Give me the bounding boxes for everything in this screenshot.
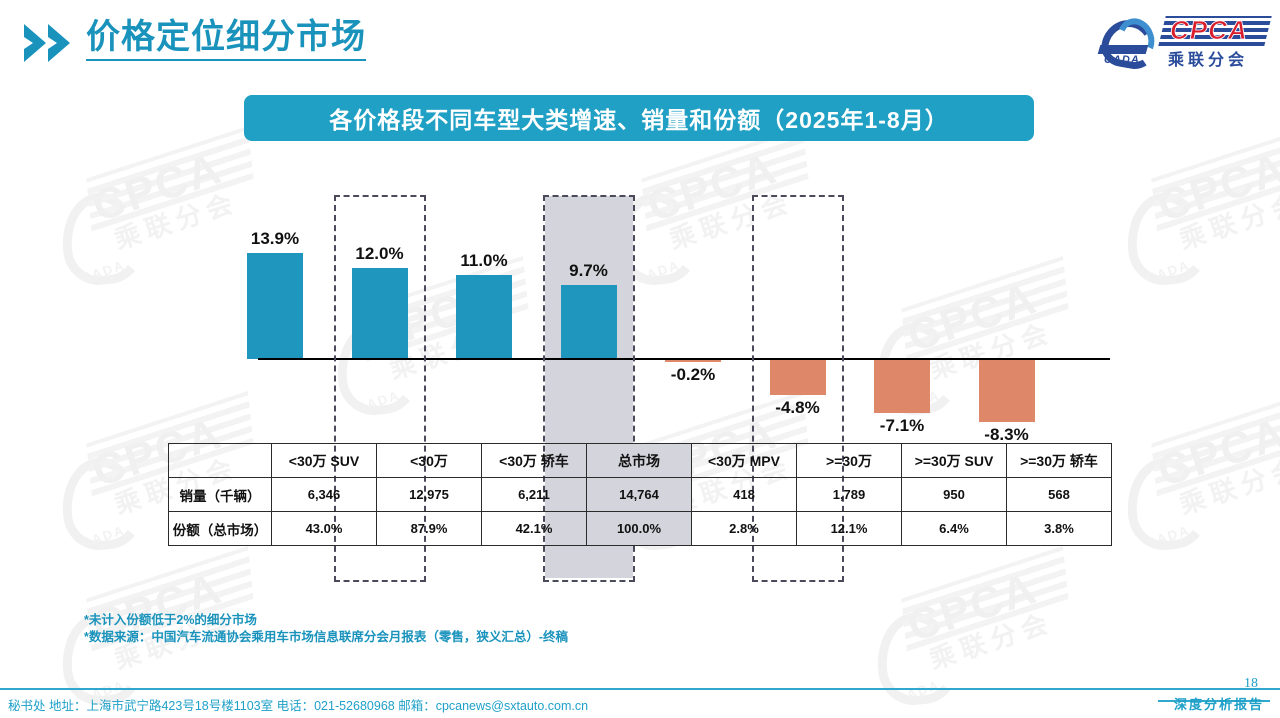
bar-3	[456, 275, 512, 359]
table-column-header: >=30万	[797, 444, 902, 478]
bar-value-label: -7.1%	[847, 416, 957, 436]
subtitle-text: 各价格段不同车型大类增速、销量和份额（2025年1-8月）	[329, 101, 948, 135]
bar-value-label: -4.8%	[743, 398, 853, 418]
page-title: 价格定位细分市场	[86, 17, 366, 61]
double-chevron-right-icon	[22, 22, 84, 64]
bar-value-label: 11.0%	[429, 251, 539, 271]
table-cell: 12,975	[377, 478, 482, 512]
table-header-row: <30万 SUV<30万<30万 轿车总市场<30万 MPV>=30万>=30万…	[169, 444, 1112, 478]
table-column-header: <30万 SUV	[272, 444, 377, 478]
footer-contact: 秘书处 地址：上海市武宁路423号18号楼1103室 电话：021-526809…	[8, 695, 588, 714]
logo-cada-text: CADA	[1104, 54, 1140, 66]
logo-cpca-text: CPCA	[1170, 15, 1270, 46]
table-cell: 6,346	[272, 478, 377, 512]
table-cell: 3.8%	[1007, 512, 1112, 546]
table-row-label: 销量（千辆）	[169, 478, 272, 512]
table-column-header: <30万	[377, 444, 482, 478]
footer-divider	[0, 688, 1280, 690]
table-row-label: 份额（总市场）	[169, 512, 272, 546]
table-cell: 6.4%	[902, 512, 1007, 546]
page-number: 18	[1244, 676, 1258, 692]
table-column-header: <30万 轿车	[482, 444, 587, 478]
footnotes: *未计入份额低于2%的细分市场*数据来源：中国汽车流通协会乘用车市场信息联席分会…	[84, 612, 568, 646]
bar-value-label: 12.0%	[325, 244, 435, 264]
table-cell: 568	[1007, 478, 1112, 512]
subtitle-banner: 各价格段不同车型大类增速、销量和份额（2025年1-8月）	[244, 95, 1034, 141]
table-cell: 14,764	[587, 478, 692, 512]
table-cell: 12.1%	[797, 512, 902, 546]
table-column-header: >=30万 轿车	[1007, 444, 1112, 478]
cpca-logo: CADA CPCA 乘联分会	[1096, 14, 1268, 70]
table-column-header: <30万 MPV	[692, 444, 797, 478]
logo-cn-text: 乘联分会	[1168, 46, 1248, 70]
bar-value-label: 13.9%	[220, 229, 330, 249]
table-cell: 6,211	[482, 478, 587, 512]
table-row: 销量（千辆）6,34612,9756,21114,7644181,7899505…	[169, 478, 1112, 512]
data-table: <30万 SUV<30万<30万 轿车总市场<30万 MPV>=30万>=30万…	[168, 443, 1112, 546]
table-column-header: 总市场	[587, 444, 692, 478]
slide-root: CPCA乘联分会CADACPCA乘联分会CADACPCA乘联分会CADACPCA…	[0, 0, 1280, 718]
table-cell: 43.0%	[272, 512, 377, 546]
table-cell: 42.1%	[482, 512, 587, 546]
table-row: 份额（总市场）43.0%87.9%42.1%100.0%2.8%12.1%6.4…	[169, 512, 1112, 546]
footer-report-label: 深度分析报告	[1174, 694, 1264, 713]
table-cell: 2.8%	[692, 512, 797, 546]
bar-chart: 13.9%12.0%11.0%9.7%-0.2%-4.8%-7.1%-8.3%	[0, 160, 1280, 460]
cada-mark-icon: CADA	[1096, 18, 1160, 66]
table-corner-cell	[169, 444, 272, 478]
logo-wordmark: CPCA 乘联分会	[1162, 16, 1268, 68]
bar-8	[979, 359, 1035, 422]
bar-7	[874, 359, 930, 413]
table-cell: 100.0%	[587, 512, 692, 546]
footnote-line: *数据来源：中国汽车流通协会乘用车市场信息联席分会月报表（零售，狭义汇总）-终稿	[84, 629, 568, 646]
bar-value-label: -0.2%	[638, 365, 748, 385]
table-cell: 418	[692, 478, 797, 512]
footnote-line: *未计入份额低于2%的细分市场	[84, 612, 568, 629]
table-cell: 87.9%	[377, 512, 482, 546]
bar-1	[247, 253, 303, 359]
bar-value-label: 9.7%	[534, 261, 644, 281]
table-cell: 950	[902, 478, 1007, 512]
table-cell: 1,789	[797, 478, 902, 512]
slide-header: 价格定位细分市场 CADA CPCA 乘联分会	[0, 0, 1280, 88]
data-table-wrap: <30万 SUV<30万<30万 轿车总市场<30万 MPV>=30万>=30万…	[168, 443, 1112, 546]
table-column-header: >=30万 SUV	[902, 444, 1007, 478]
